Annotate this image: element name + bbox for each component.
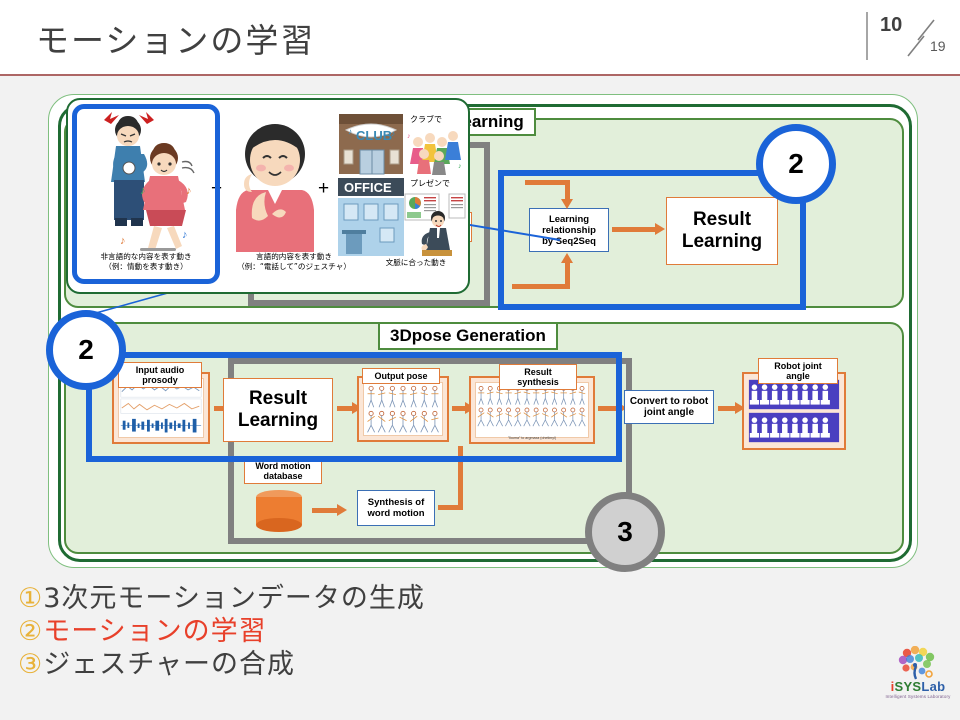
badge-3-pose: 3 [585, 492, 665, 572]
page-title: モーションの学習 [36, 14, 315, 62]
verbal-caption-line2: （例：“電話して”のジェスチャ） [214, 262, 374, 272]
bullet-2-number: ② [18, 616, 43, 647]
verbal-motion-illustration [228, 118, 322, 252]
svg-text:OFFICE: OFFICE [344, 180, 392, 195]
club-building-illustration: CLUB ♪ ♪ [336, 108, 406, 178]
bullet-item-2: ②モーションの学習 [18, 615, 618, 648]
bullet-3-text: ジェスチャーの合成 [43, 649, 295, 680]
page-number-total: 19 [930, 38, 946, 54]
isyslab-logo: iSYSLab Intelligent Systems Laboratory [884, 646, 952, 708]
synthesis-word-line2: word motion [368, 508, 425, 519]
logo-sys: SYS [894, 679, 921, 694]
bullet-3-number: ③ [18, 649, 43, 680]
bullet-item-3: ③ジェスチャーの合成 [18, 648, 618, 681]
robot-joint-line1: Robot joint [764, 361, 832, 371]
slide-header: モーションの学習 10 19 [0, 0, 960, 74]
svg-text:♪: ♪ [458, 163, 462, 170]
arrow-db-to-synthesis [312, 508, 338, 513]
callout-popup: ♪ ♪ ♪ ♪ 非言語的な内容を表す動き （例：情動を表す動き） + 言語的内容… [66, 98, 470, 294]
badge-2-pose: 2 [46, 310, 126, 390]
bullet-item-1: ①3次元モーションデータの生成 [18, 582, 618, 615]
word-motion-db-line2: database [250, 471, 316, 481]
arrow-convert-to-robot [718, 406, 736, 411]
word-motion-db-line1: Word motion [250, 461, 316, 471]
robot-joint-line2: angle [764, 371, 832, 381]
bullet-1-number: ① [18, 583, 43, 614]
callout-popup-highlight [72, 104, 220, 284]
badge-2-pose-label: 2 [78, 334, 94, 366]
learning-highlight-rect [498, 170, 806, 310]
synthesis-word-line1: Synthesis of [368, 497, 425, 508]
word-motion-db-cylinder-icon [256, 490, 302, 532]
office-building-illustration: OFFICE [336, 176, 406, 258]
plus-sign-2: + [318, 178, 329, 200]
bullet-1-text: 3次元モーションデータの生成 [43, 583, 425, 614]
header-rule [0, 74, 960, 76]
svg-text:♪: ♪ [391, 129, 395, 138]
contextual-caption: 文脈に合った動き [364, 258, 468, 268]
club-dancers-illustration: ♪ ♪ [406, 126, 464, 178]
club-label: クラブで [410, 114, 442, 125]
isyslab-tagline: Intelligent Systems Laboratory [884, 694, 952, 699]
robot-joint-angle-caption: Robot joint angle [758, 358, 838, 384]
isyslab-wordmark: iSYSLab [884, 679, 952, 694]
synthesis-word-motion-box: Synthesis of word motion [357, 490, 435, 526]
bullet-list: ①3次元モーションデータの生成 ②モーションの学習 ③ジェスチャーの合成 [18, 582, 618, 681]
presentation-illustration [404, 188, 466, 260]
badge-2-learning: 2 [756, 124, 836, 204]
header-divider [866, 12, 868, 60]
svg-text:♪: ♪ [348, 127, 352, 136]
convert-line2: joint angle [644, 407, 694, 418]
pose-highlight-rect [86, 352, 622, 462]
pose-section-title: 3Dpose Generation [378, 322, 558, 350]
svg-text:CLUB: CLUB [356, 128, 392, 143]
isyslab-brain-icon [898, 646, 938, 680]
bullet-2-text: モーションの学習 [43, 616, 266, 647]
badge-3-pose-label: 3 [617, 516, 633, 548]
convert-line1: Convert to robot [630, 396, 708, 407]
robot-joint-angle-figures [748, 378, 840, 444]
convert-robot-joint-box: Convert to robot joint angle [624, 390, 714, 424]
svg-text:♪: ♪ [407, 133, 411, 140]
badge-2-learning-label: 2 [788, 148, 804, 180]
logo-lab: Lab [921, 679, 945, 694]
